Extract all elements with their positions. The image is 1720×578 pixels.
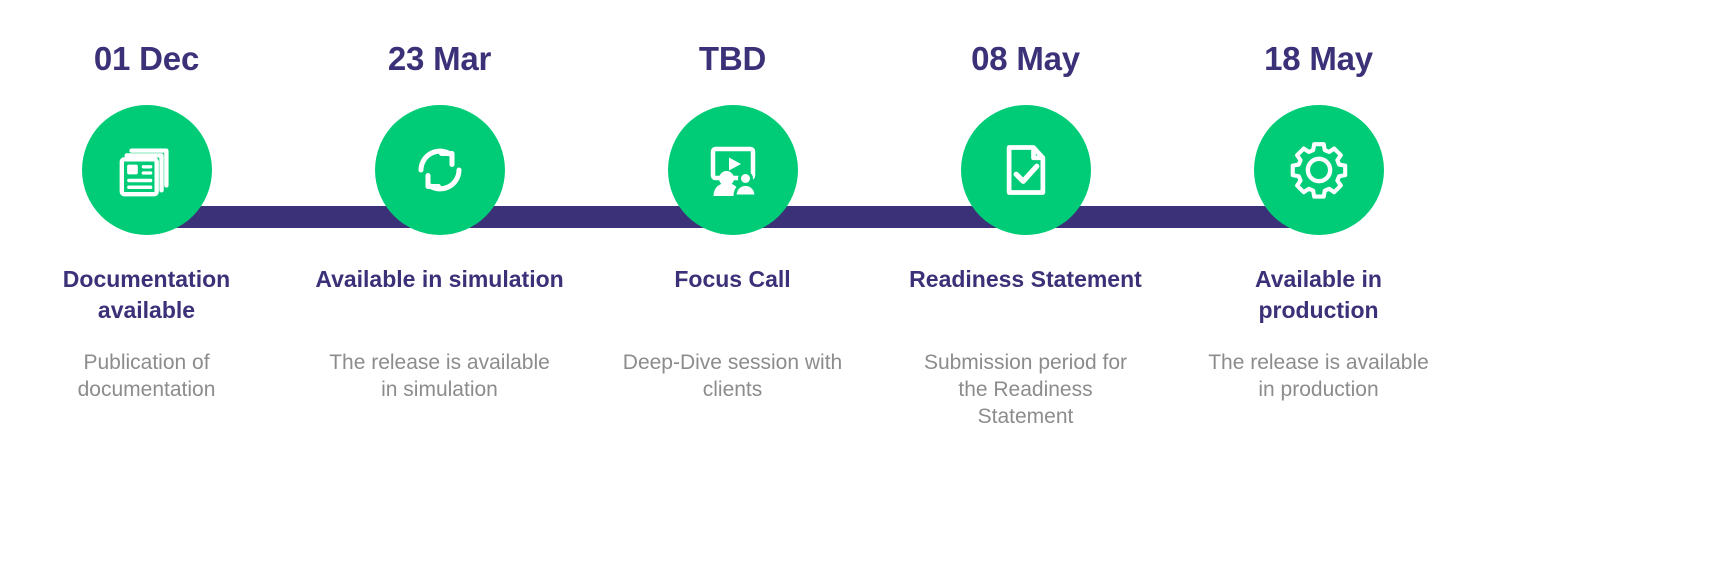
documentation-icon: [116, 139, 178, 201]
milestone-title-slot: Focus Call: [674, 235, 790, 327]
milestone-description: Deep-Dive session with clients: [615, 349, 850, 403]
milestone-title: Focus Call: [674, 264, 790, 295]
milestone-date: 23 Mar: [388, 36, 491, 82]
release-timeline: 01 Dec: [0, 0, 1720, 578]
milestone-title: Readiness Statement: [909, 264, 1142, 295]
presentation-people-icon: [701, 138, 765, 202]
timeline-milestone[interactable]: 01 Dec: [0, 0, 293, 403]
milestone-description-slot: The release is available in simulation: [322, 327, 557, 403]
timeline-milestone[interactable]: TBD Focus Call: [586, 0, 879, 403]
milestone-icon-circle: [961, 105, 1091, 235]
milestone-title-slot: Available in simulation: [315, 235, 563, 327]
milestone-icon-circle: [375, 105, 505, 235]
document-check-icon: [996, 140, 1056, 200]
milestone-description-slot: Publication of documentation: [29, 327, 264, 403]
milestone-icon-circle: [1254, 105, 1384, 235]
milestone-title: Available in simulation: [315, 264, 563, 295]
milestone-date: 08 May: [971, 36, 1080, 82]
milestone-date: TBD: [699, 36, 766, 82]
milestone-icon-badge[interactable]: [668, 105, 798, 235]
milestone-icon-circle: [82, 105, 212, 235]
milestone-icon-badge[interactable]: [82, 105, 212, 235]
milestone-title-slot: Documentation available: [22, 235, 272, 327]
timeline-milestone[interactable]: 23 Mar Available in simulation: [293, 0, 586, 403]
milestone-icon-badge[interactable]: [961, 105, 1091, 235]
timeline-milestone-list: 01 Dec: [0, 0, 1466, 578]
milestone-description-slot: The release is available in production: [1201, 327, 1436, 403]
milestone-title: Available in production: [1194, 264, 1444, 326]
milestone-date: 18 May: [1264, 36, 1373, 82]
milestone-icon-badge[interactable]: [375, 105, 505, 235]
milestone-description: The release is available in production: [1201, 349, 1436, 403]
milestone-title: Documentation available: [22, 264, 272, 326]
gear-icon: [1288, 139, 1350, 201]
milestone-description: The release is available in simulation: [322, 349, 557, 403]
milestone-title-slot: Available in production: [1194, 235, 1444, 327]
milestone-icon-circle: [668, 105, 798, 235]
milestone-title-slot: Readiness Statement: [909, 235, 1142, 327]
timeline-milestone[interactable]: 18 May Available in production The relea…: [1172, 0, 1465, 403]
milestone-description: Submission period for the Readiness Stat…: [908, 349, 1143, 430]
timeline-milestone[interactable]: 08 May Readiness Statement Submission: [879, 0, 1172, 430]
milestone-date: 01 Dec: [94, 36, 199, 82]
sync-arrows-icon: [408, 138, 472, 202]
milestone-description-slot: Deep-Dive session with clients: [615, 327, 850, 403]
milestone-icon-badge[interactable]: [1254, 105, 1384, 235]
milestone-description-slot: Submission period for the Readiness Stat…: [908, 327, 1143, 430]
milestone-description: Publication of documentation: [29, 349, 264, 403]
